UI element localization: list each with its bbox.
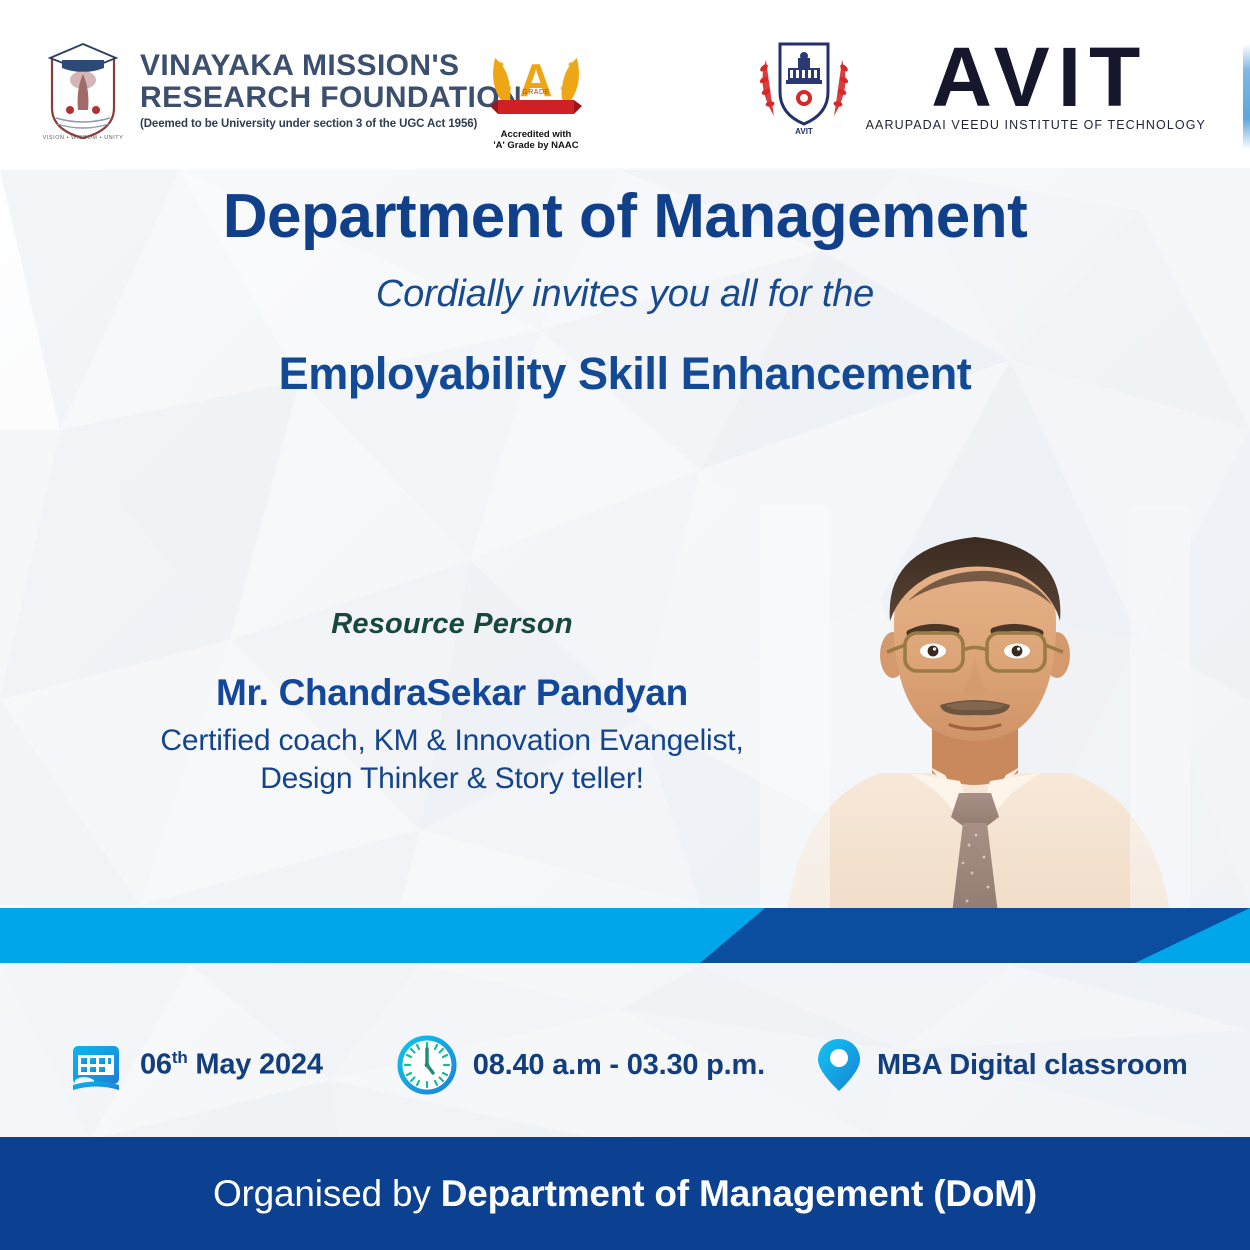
footer-text: Organised by Department of Management (D…: [213, 1173, 1037, 1215]
calendar-icon: [68, 1036, 124, 1094]
naac-caption-line2: 'A' Grade by NAAC: [482, 141, 590, 152]
event-title: Employability Skill Enhancement: [0, 348, 1250, 400]
resource-person-credentials-line2: Design Thinker & Story teller!: [52, 760, 852, 798]
university-name-line2: RESEARCH FOUNDATION: [140, 82, 522, 114]
resource-person-label: Resource Person: [52, 608, 852, 641]
resource-person-credentials-line1: Certified coach, KM & Innovation Evangel…: [52, 722, 852, 760]
event-details-row: 06th May 2024: [0, 1022, 1250, 1108]
avit-shield-crest-icon: AVIT: [752, 34, 856, 138]
university-subtitle: (Deemed to be University under section 3…: [140, 118, 522, 130]
university-name-line1: VINAYAKA MISSION'S: [140, 50, 522, 82]
right-edge-accent: [1243, 44, 1250, 150]
footer-prefix: Organised by: [213, 1173, 441, 1214]
naac-badge: A GRADE Accredited with 'A' Grade by NAA…: [482, 44, 590, 156]
svg-text:GRADE: GRADE: [522, 89, 549, 96]
resource-person-block: Resource Person Mr. ChandraSekar Pandyan…: [52, 608, 852, 799]
footer-organiser: Department of Management (DoM): [441, 1173, 1037, 1214]
poster-footer: Organised by Department of Management (D…: [0, 1137, 1250, 1250]
event-time-text: 08.40 a.m - 03.30 p.m.: [473, 1049, 765, 1082]
page-title: Department of Management: [0, 182, 1250, 251]
title-block: Department of Management Cordially invit…: [0, 182, 1250, 400]
event-date-ordinal: th: [172, 1048, 188, 1067]
naac-accreditation-badge-icon: A GRADE: [482, 44, 590, 124]
event-venue-text: MBA Digital classroom: [877, 1049, 1188, 1082]
event-date-day: 06: [140, 1049, 172, 1081]
decorative-ribbon-band: [0, 900, 1250, 970]
event-venue: MBA Digital classroom: [817, 1036, 1188, 1094]
event-time: 08.40 a.m - 03.30 p.m.: [397, 1035, 765, 1095]
university-logo: VISION • WISDOM • UNITY VINAYAKA MISSION…: [40, 38, 522, 142]
svg-text:VISION • WISDOM • UNITY: VISION • WISDOM • UNITY: [43, 135, 124, 141]
event-date-month-year: May 2024: [195, 1049, 322, 1081]
avit-logo: AVIT AVIT AARUPADAI VEEDU INSTITUTE OF T…: [752, 34, 1206, 138]
invitation-line: Cordially invites you all for the: [0, 273, 1250, 316]
avit-full-name: AARUPADAI VEEDU INSTITUTE OF TECHNOLOGY: [866, 118, 1206, 132]
svg-text:A: A: [519, 54, 552, 106]
event-date-text: 06th May 2024: [140, 1048, 323, 1082]
event-date: 06th May 2024: [68, 1036, 323, 1094]
clock-icon: [397, 1035, 457, 1095]
svg-text:AVIT: AVIT: [795, 127, 813, 136]
location-pin-icon: [817, 1036, 861, 1094]
resource-person-name: Mr. ChandraSekar Pandyan: [52, 672, 852, 714]
poster-header: VISION • WISDOM • UNITY VINAYAKA MISSION…: [0, 0, 1250, 168]
university-crest-icon: VISION • WISDOM • UNITY: [40, 38, 126, 142]
avit-acronym: AVIT: [931, 40, 1148, 116]
event-poster: VISION • WISDOM • UNITY VINAYAKA MISSION…: [0, 0, 1250, 1250]
